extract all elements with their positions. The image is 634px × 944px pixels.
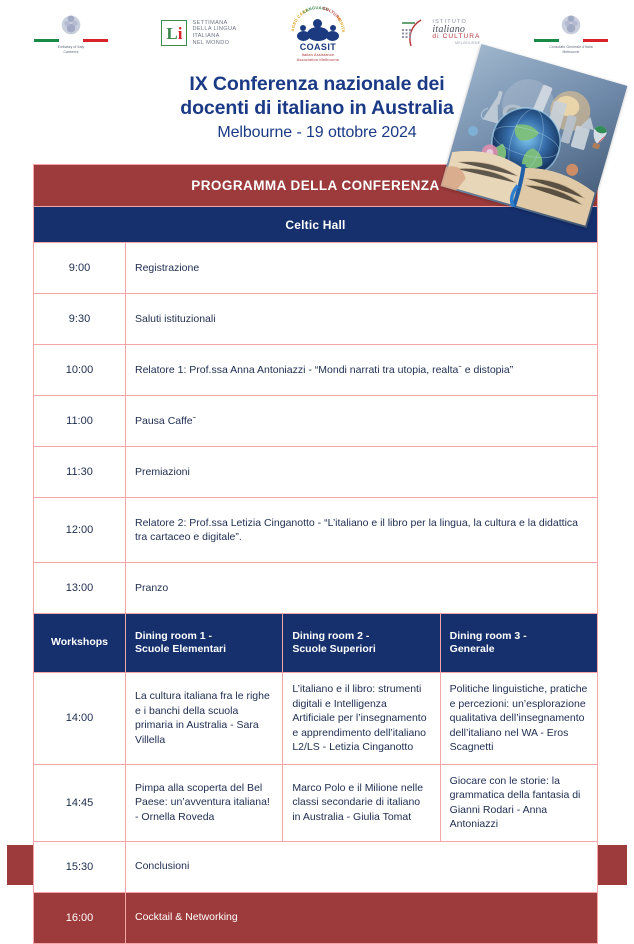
logo-embassy-of-italy-canberra: Embassy of Italy Canberra <box>34 12 108 54</box>
session-description: Relatore 2: Prof.ssa Letizia Cinganotto … <box>126 498 598 563</box>
table-row: 10:00 Relatore 1: Prof.ssa Anna Antoniaz… <box>34 345 598 396</box>
session-description: Registrazione <box>126 243 598 294</box>
italian-republic-emblem-icon <box>60 12 82 38</box>
coasit-emblem-icon: AGED CARE LANGUAGE CULTURE HERITAGE <box>290 4 346 42</box>
iic-emblem-icon <box>399 18 429 48</box>
workshops-label: Workshops <box>34 614 126 673</box>
session-time: 11:00 <box>34 396 126 447</box>
session-description: Premiazioni <box>126 447 598 498</box>
workshop-column-1-header: Dining room 1 - Scuole Elementari <box>126 614 283 673</box>
table-row: 9:00 Registrazione <box>34 243 598 294</box>
table-row: 16:00 Cocktail & Networking <box>34 892 598 943</box>
italian-republic-emblem-icon <box>560 12 582 38</box>
session-time: 10:00 <box>34 345 126 396</box>
table-row: 11:00 Pausa Caffeˉ <box>34 396 598 447</box>
workshop-session-room2: Marco Polo e il Milione nelle classi sec… <box>283 764 440 841</box>
table-row: 13:00 Pranzo <box>34 563 598 614</box>
workshop-session-room1: Pimpa alla scoperta del Bel Paese: un’av… <box>126 764 283 841</box>
session-time: 9:30 <box>34 294 126 345</box>
workshop-session-room3: Giocare con le storie: la grammatica del… <box>440 764 597 841</box>
iic-line-4: MELBOURNE <box>432 40 480 47</box>
partner-logo-strip: Embassy of Italy Canberra Li SETTIMANA D… <box>0 0 634 62</box>
italian-tricolor-icon <box>34 39 108 42</box>
iic-wordmark: ISTITUTO italiano di CULTURA MELBOURNE <box>432 19 480 47</box>
logo-coasit: AGED CARE LANGUAGE CULTURE HERITAGE COAS… <box>290 4 346 62</box>
workshop-column-3-header: Dining room 3 - Generale <box>440 614 597 673</box>
table-row: 11:30 Premiazioni <box>34 447 598 498</box>
workshop-time: 14:45 <box>34 764 126 841</box>
session-description: Pranzo <box>126 563 598 614</box>
iic-line-3: di CULTURA <box>432 33 480 40</box>
logo-consulate-caption: Consolato Generale d'Italia Melbourne <box>549 45 593 54</box>
venue-label: Celtic Hall <box>34 207 598 243</box>
session-description: Conclusioni <box>126 841 598 892</box>
logo-embassy-caption: Embassy of Italy Canberra <box>58 45 84 54</box>
session-time: 16:00 <box>34 892 126 943</box>
table-row: 15:30 Conclusioni <box>34 841 598 892</box>
workshops-header-row: Workshops Dining room 1 - Scuole Element… <box>34 614 598 673</box>
logo-sli-text: SETTIMANA DELLA LINGUA ITALIANA NEL MOND… <box>192 20 236 46</box>
workshop-session-room1: La cultura italiana fra le righe e i ban… <box>126 673 283 765</box>
program-table-container: PROGRAMMA DELLA CONFERENZA Celtic Hall 9… <box>33 164 598 944</box>
logo-consolato-generale-italia-melbourne: Consolato Generale d'Italia Melbourne <box>534 12 608 54</box>
conference-program-table: PROGRAMMA DELLA CONFERENZA Celtic Hall 9… <box>33 164 598 944</box>
table-row: 14:45 Pimpa alla scoperta del Bel Paese:… <box>34 764 598 841</box>
workshop-column-2-header: Dining room 2 - Scuole Superiori <box>283 614 440 673</box>
coasit-wordmark: COASIT <box>300 42 336 52</box>
session-time: 9:00 <box>34 243 126 294</box>
session-time: 13:00 <box>34 563 126 614</box>
table-row: 12:00 Relatore 2: Prof.ssa Letizia Cinga… <box>34 498 598 563</box>
session-description: Relatore 1: Prof.ssa Anna Antoniazzi - “… <box>126 345 598 396</box>
coasit-people-icon <box>298 19 338 41</box>
iic-line-2: italiano <box>432 26 480 33</box>
session-description: Pausa Caffeˉ <box>126 396 598 447</box>
session-description: Saluti istituzionali <box>126 294 598 345</box>
workshop-session-room3: Politiche linguistiche, pratiche e perce… <box>440 673 597 765</box>
session-description: Cocktail & Networking <box>126 892 598 943</box>
session-time: 12:00 <box>34 498 126 563</box>
table-row: 9:30 Saluti istituzionali <box>34 294 598 345</box>
session-time: 11:30 <box>34 447 126 498</box>
table-row: 14:00 La cultura italiana fra le righe e… <box>34 673 598 765</box>
coasit-subtitle: Italian Assistance Association Melbourne <box>297 52 340 62</box>
workshop-session-room2: L’italiano e il libro: strumenti digital… <box>283 673 440 765</box>
logo-settimana-lingua-italiana: Li SETTIMANA DELLA LINGUA ITALIANA NEL M… <box>161 20 236 46</box>
logo-istituto-italiano-di-cultura: ISTITUTO italiano di CULTURA MELBOURNE <box>399 18 480 48</box>
italian-tricolor-icon <box>534 39 608 42</box>
venue-row: Celtic Hall <box>34 207 598 243</box>
session-time: 15:30 <box>34 841 126 892</box>
li-monogram-icon: Li <box>161 20 187 46</box>
workshop-time: 14:00 <box>34 673 126 765</box>
